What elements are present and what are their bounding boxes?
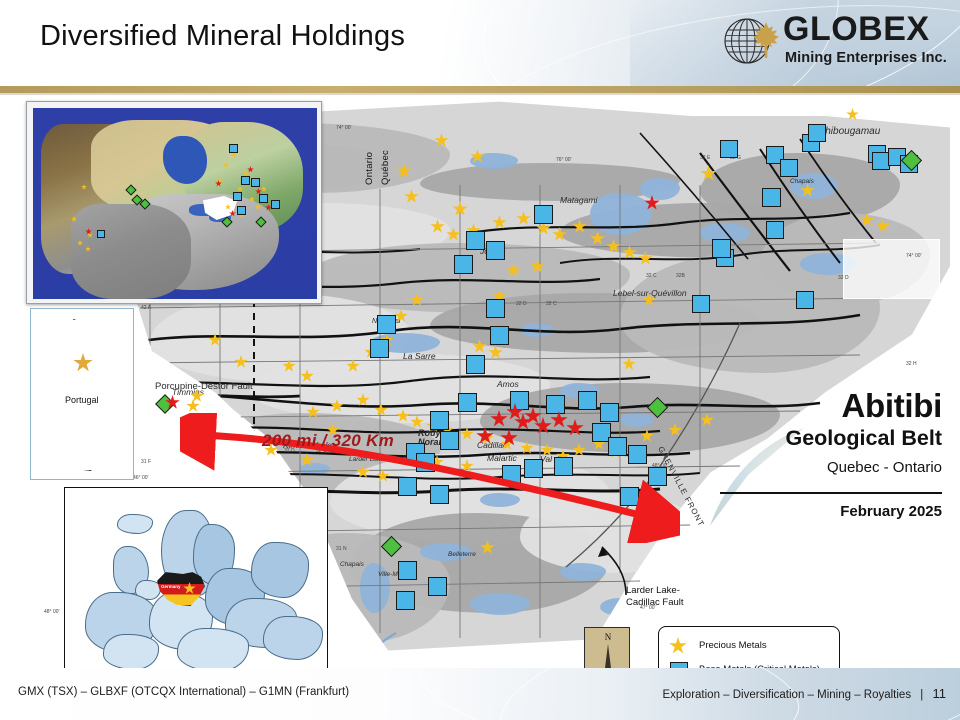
label-ontario: Ontario — [364, 152, 375, 185]
slide-header: Diversified Mineral Holdings GLOBEX Mini… — [0, 0, 960, 86]
place-label-amos: Amos — [497, 379, 519, 389]
map-subtitle-geological-belt: Geological Belt — [785, 428, 942, 450]
germany-label: Germany — [161, 584, 181, 589]
logo-tagline: Mining Enterprises Inc. — [785, 50, 947, 66]
place-label-chapais-south: Chapais — [340, 561, 364, 568]
slide-footer: GMX (TSX) – GLBXF (OTCQX International) … — [0, 668, 960, 720]
footer-tickers: GMX (TSX) – GLBXF (OTCQX International) … — [18, 686, 349, 698]
combined-symbol-timmins — [158, 395, 180, 411]
map-provinces: Quebec - Ontario — [827, 460, 942, 475]
slide-title: Diversified Mineral Holdings — [40, 20, 405, 53]
footer-page-number: 11 — [933, 686, 947, 701]
legend-label-precious-metals: Precious Metals — [699, 641, 767, 652]
header-gold-rule — [0, 86, 960, 93]
footer-tagline: Exploration – Diversification – Mining –… — [662, 686, 946, 701]
gold-star-icon — [667, 635, 693, 657]
map-legend: Precious Metals Base Metals (Critical Me… — [658, 626, 840, 668]
inset-north-america — [26, 101, 322, 304]
map-title-abitibi: Abitibi — [841, 389, 942, 422]
footer-separator: | — [920, 689, 923, 701]
portugal-label: Portugal — [65, 395, 99, 405]
distance-label: 200 mi / 320 Km — [262, 431, 394, 451]
north-america-map-image — [33, 108, 317, 299]
place-label-la-sarre: La Sarre — [403, 351, 436, 361]
logo-wordmark: GLOBEX — [783, 12, 930, 46]
footer-tagline-text: Exploration – Diversification – Mining –… — [662, 689, 911, 701]
slide: 74° 00' 76° 00' 32 E 32 G 32 C 32B 32 D … — [0, 0, 960, 720]
label-quebec: Québec — [380, 150, 391, 185]
globex-logo[interactable]: GLOBEX Mining Enterprises Inc. — [723, 10, 938, 76]
header-gold-rule-shadow — [0, 93, 960, 95]
presentation-date: February 2025 — [840, 503, 942, 520]
place-label-chibougamau: Chibougamau — [818, 126, 880, 137]
legend-row-base-metals: Base Metals (Critical Metals) — [667, 658, 831, 668]
place-label-belleterre: Belleterre — [448, 551, 476, 558]
title-divider — [720, 492, 942, 494]
blue-square-icon — [667, 659, 693, 668]
place-label-matagami: Matagami — [560, 195, 597, 205]
chibougamau-highlight-box — [843, 239, 940, 299]
fault-callout-text: Larder Lake-Cadillac Fault — [626, 585, 684, 609]
compass-rose: N — [584, 627, 630, 668]
fault-label-porcupine-destor: Porcupine-Destor Fault — [155, 381, 253, 392]
maple-leaf-icon — [753, 22, 779, 58]
inset-europe: Germany — [64, 487, 328, 677]
inset-portugal: Portugal — [30, 308, 134, 480]
place-label-chapais-north: Chapais — [790, 178, 814, 185]
legend-row-precious-metals: Precious Metals — [667, 634, 831, 658]
